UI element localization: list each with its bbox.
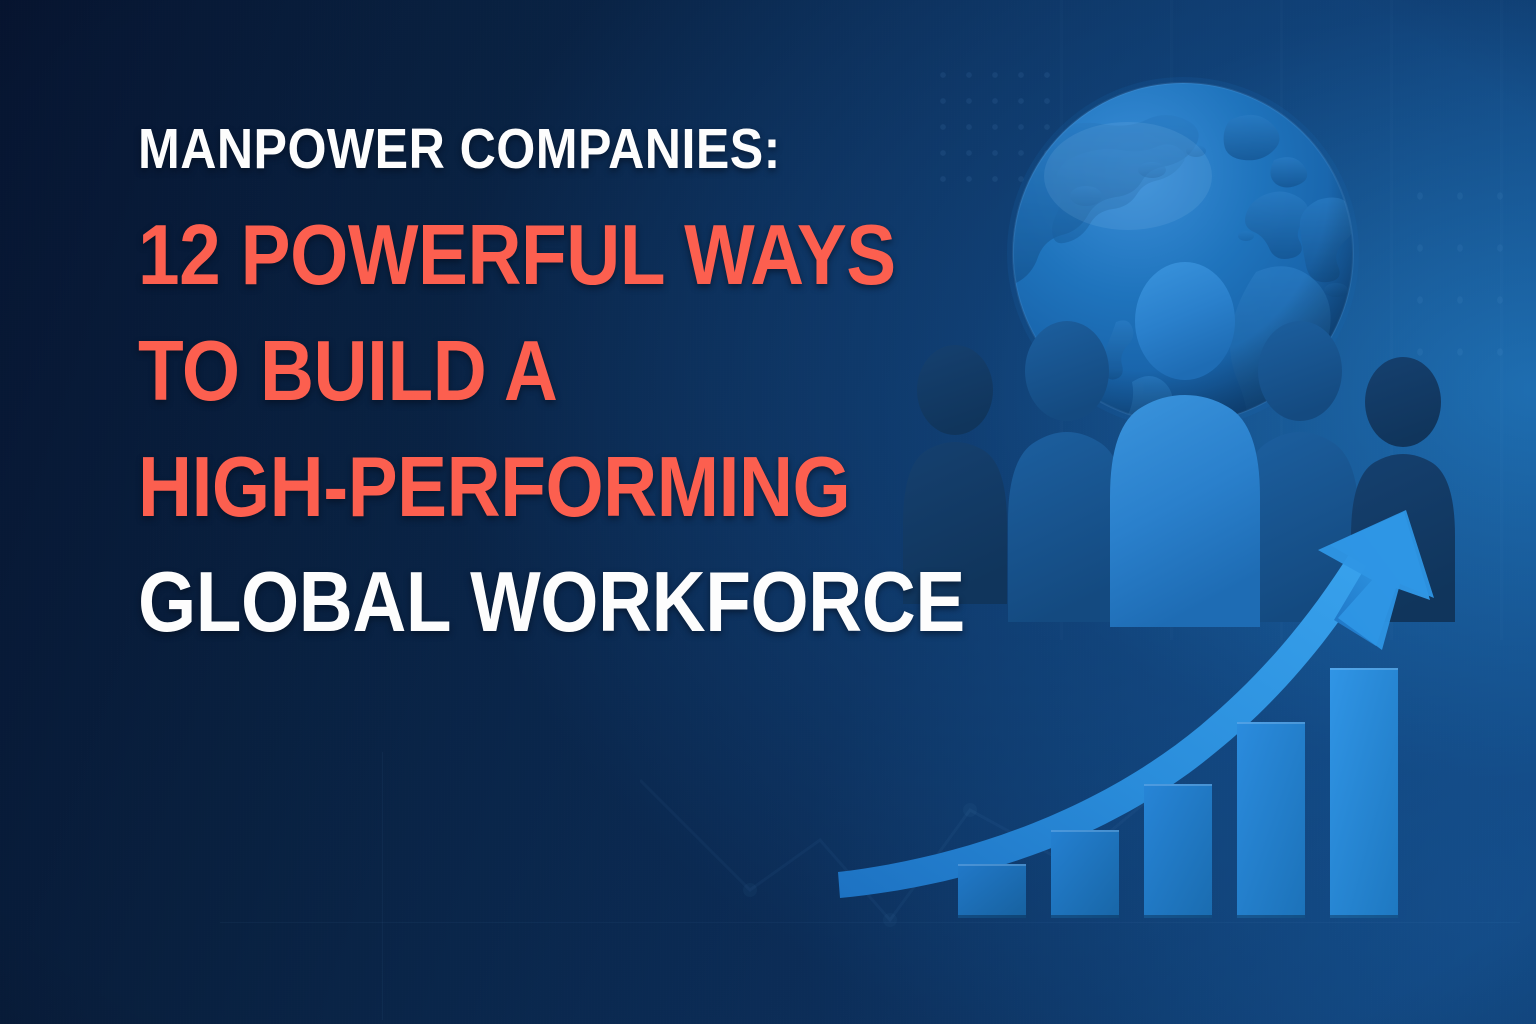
bar-1 (958, 864, 1026, 918)
bar-3 (1144, 784, 1212, 918)
headline-white-line-1: GLOBAL WORKFORCE (138, 546, 983, 660)
headline-eyebrow: MANPOWER COMPANIES: (138, 118, 983, 180)
bar-4 (1237, 722, 1305, 918)
headline-accent-line-2: TO BUILD A (138, 314, 983, 430)
headline-accent-line-3: HIGH-PERFORMING (138, 430, 983, 546)
bar-2 (1051, 830, 1119, 918)
poster-canvas: MANPOWER COMPANIES: 12 POWERFUL WAYS TO … (0, 0, 1536, 1024)
headline-spacer (138, 180, 1098, 198)
headline-accent-line-1: 12 POWERFUL WAYS (138, 198, 983, 314)
bar-5 (1330, 668, 1398, 918)
headline-block: MANPOWER COMPANIES: 12 POWERFUL WAYS TO … (138, 118, 1098, 660)
bar-chart-icon (958, 668, 1398, 918)
